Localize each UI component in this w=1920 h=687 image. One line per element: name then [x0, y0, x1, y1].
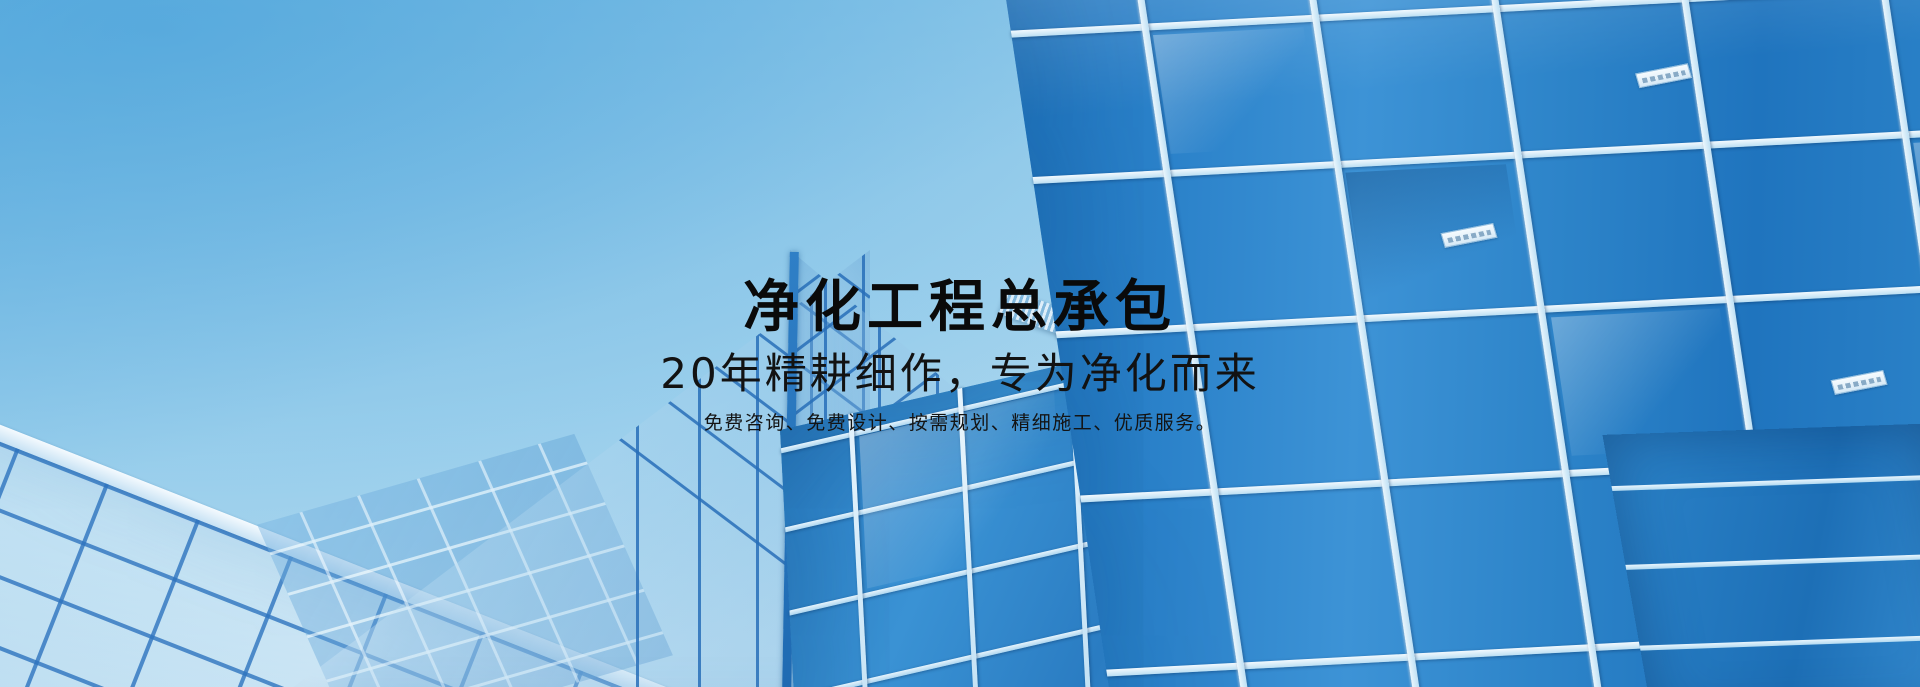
window-label-tag — [1831, 370, 1888, 395]
right-edge-tower-sliver — [1602, 424, 1920, 687]
window-label-tag — [1635, 63, 1692, 88]
hero-banner: 净化工程总承包 20年精耕细作，专为净化而来 免费咨询、免费设计、按需规划、精细… — [0, 0, 1920, 687]
